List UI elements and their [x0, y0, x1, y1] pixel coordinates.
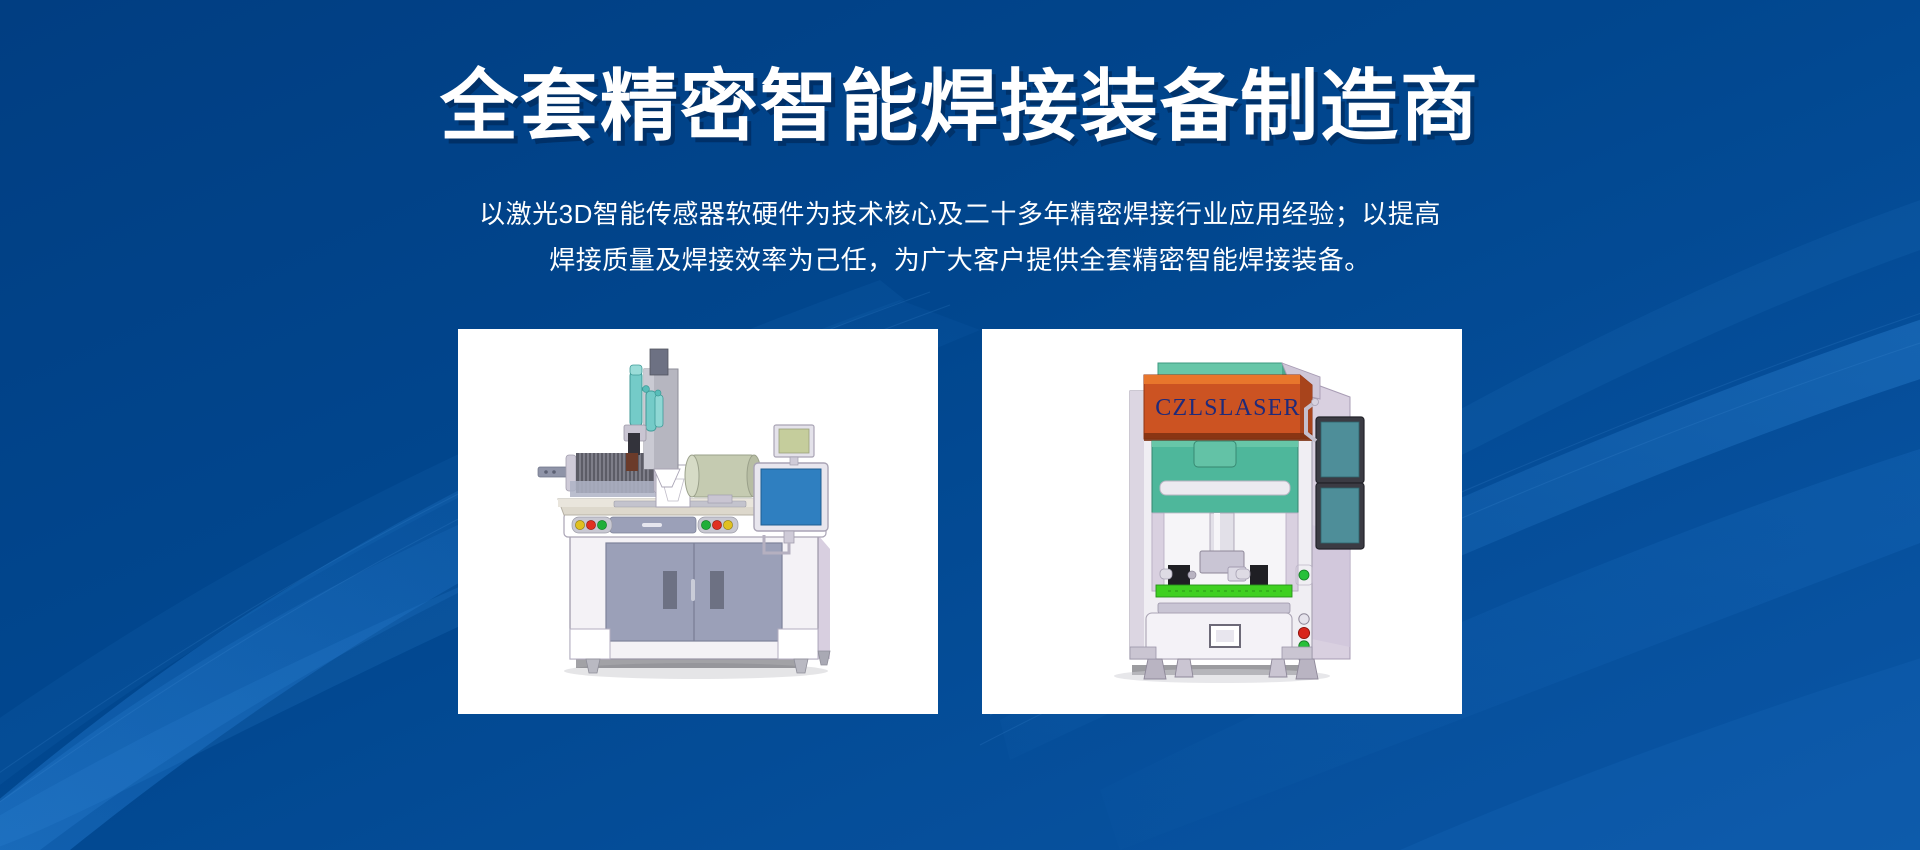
czl-laser-cabinet-illustration: CZLSLASER: [982, 329, 1462, 714]
hero-banner: 全套精密智能焊接装备制造商 以激光3D智能传感器软硬件为技术核心及二十多年精密焊…: [0, 0, 1920, 850]
banner-content: 全套精密智能焊接装备制造商 以激光3D智能传感器软硬件为技术核心及二十多年精密焊…: [0, 0, 1920, 850]
subcopy-line-1: 以激光3D智能传感器软硬件为技术核心及二十多年精密焊接行业应用经验；以提高: [395, 192, 1525, 238]
banner-subcopy: 以激光3D智能传感器软硬件为技术核心及二十多年精密焊接行业应用经验；以提高 焊接…: [395, 192, 1525, 283]
page-title: 全套精密智能焊接装备制造商: [440, 60, 1480, 152]
subcopy-line-2: 焊接质量及焊接效率为己任，为广大客户提供全套精密智能焊接装备。: [395, 238, 1525, 284]
product-image-gallery: CZLSLASER: [458, 329, 1462, 714]
machine-brand-label: CZLSLASER: [1155, 395, 1300, 421]
product-card-welding-workstation[interactable]: [458, 329, 938, 714]
welding-workstation-illustration: [458, 329, 938, 714]
product-card-czl-laser-cabinet[interactable]: CZLSLASER: [982, 329, 1462, 714]
